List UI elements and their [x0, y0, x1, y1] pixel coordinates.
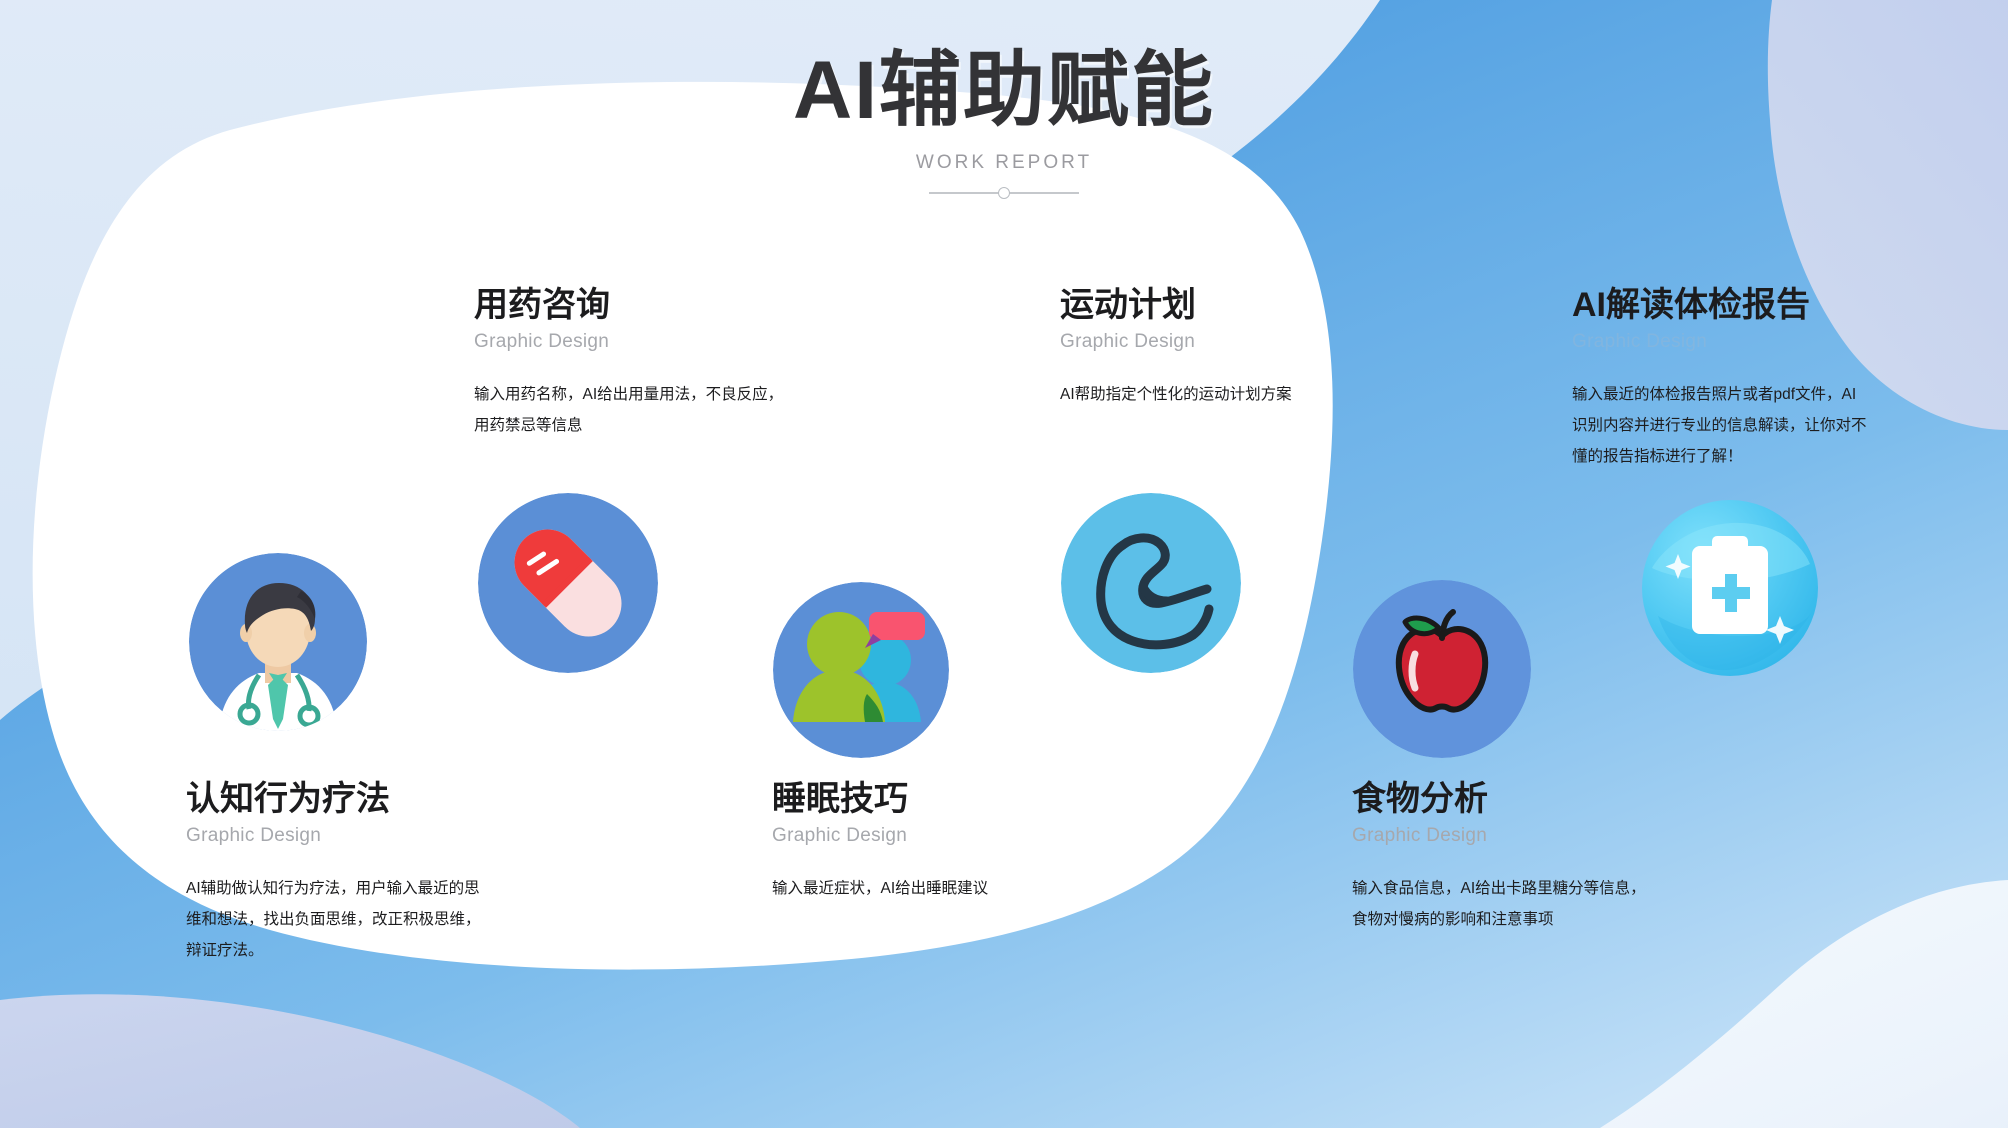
- feature-desc-line: 输入最近的体检报告照片或者pdf文件，AI: [1572, 379, 1912, 410]
- feature-desc-line: 用药禁忌等信息: [474, 410, 824, 441]
- feature-food-analysis[interactable]: 食物分析 Graphic Design 输入食品信息，AI给出卡路里糖分等信息，…: [1352, 780, 1692, 935]
- page-subtitle: WORK REPORT: [0, 152, 2008, 174]
- feature-description: 输入最近症状，AI给出睡眠建议: [772, 873, 1102, 904]
- pill-icon-graphic: [478, 493, 658, 673]
- feature-desc-line: AI帮助指定个性化的运动计划方案: [1060, 379, 1390, 410]
- feature-desc-line: AI辅助做认知行为疗法，用户输入最近的思: [186, 873, 526, 904]
- doctor-avatar-icon[interactable]: [189, 553, 367, 731]
- people-chat-icon[interactable]: [773, 582, 949, 758]
- feature-desc-line: 辩证疗法。: [186, 935, 526, 966]
- apple-icon-graphic: [1353, 580, 1531, 758]
- feature-subtitle: Graphic Design: [1352, 825, 1692, 847]
- feature-desc-line: 懂的报告指标进行了解！: [1572, 441, 1912, 472]
- feature-description: AI帮助指定个性化的运动计划方案: [1060, 379, 1390, 410]
- title-divider: [929, 186, 1079, 200]
- people-chat-icon-graphic: [773, 582, 949, 758]
- feature-description: 输入食品信息，AI给出卡路里糖分等信息， 食物对慢病的影响和注意事项: [1352, 873, 1692, 935]
- medical-clipboard-icon-graphic: [1640, 498, 1820, 678]
- feature-description: 输入用药名称，AI给出用量用法，不良反应， 用药禁忌等信息: [474, 379, 824, 441]
- feature-subtitle: Graphic Design: [186, 825, 526, 847]
- feature-desc-line: 食物对慢病的影响和注意事项: [1352, 904, 1692, 935]
- feature-title: 运动计划: [1060, 286, 1390, 325]
- feature-subtitle: Graphic Design: [1060, 331, 1390, 353]
- slide-canvas: AI辅助赋能 WORK REPORT 用药咨询 Graphic Design 输…: [0, 0, 2008, 1128]
- feature-desc-line: 识别内容并进行专业的信息解读，让你对不: [1572, 410, 1912, 441]
- feature-subtitle: Graphic Design: [1572, 331, 1912, 353]
- feature-desc-line: 输入最近症状，AI给出睡眠建议: [772, 873, 1102, 904]
- feature-title: 用药咨询: [474, 286, 824, 325]
- feature-desc-line: 输入用药名称，AI给出用量用法，不良反应，: [474, 379, 824, 410]
- title-block: AI辅助赋能 WORK REPORT: [0, 46, 2008, 200]
- feature-title: 认知行为疗法: [186, 780, 526, 819]
- pill-icon[interactable]: [478, 493, 658, 673]
- feature-description: 输入最近的体检报告照片或者pdf文件，AI 识别内容并进行专业的信息解读，让你对…: [1572, 379, 1912, 472]
- feature-ai-health-report[interactable]: AI解读体检报告 Graphic Design 输入最近的体检报告照片或者pdf…: [1572, 286, 1912, 472]
- feature-title: 睡眠技巧: [772, 780, 1102, 819]
- divider-dot-icon: [998, 187, 1010, 199]
- feature-subtitle: Graphic Design: [474, 331, 824, 353]
- feature-desc-line: 输入食品信息，AI给出卡路里糖分等信息，: [1352, 873, 1692, 904]
- feature-sleep-tips[interactable]: 睡眠技巧 Graphic Design 输入最近症状，AI给出睡眠建议: [772, 780, 1102, 904]
- feature-title: AI解读体检报告: [1572, 286, 1912, 325]
- feature-medication-consultation[interactable]: 用药咨询 Graphic Design 输入用药名称，AI给出用量用法，不良反应…: [474, 286, 824, 441]
- page-title: AI辅助赋能: [0, 46, 2008, 136]
- feature-subtitle: Graphic Design: [772, 825, 1102, 847]
- feature-desc-line: 维和想法，找出负面思维，改正积极思维，: [186, 904, 526, 935]
- apple-icon[interactable]: [1353, 580, 1531, 758]
- feature-description: AI辅助做认知行为疗法，用户输入最近的思 维和想法，找出负面思维，改正积极思维，…: [186, 873, 526, 966]
- feature-title: 食物分析: [1352, 780, 1692, 819]
- feature-exercise-plan[interactable]: 运动计划 Graphic Design AI帮助指定个性化的运动计划方案: [1060, 286, 1390, 410]
- feature-cognitive-behavioral-therapy[interactable]: 认知行为疗法 Graphic Design AI辅助做认知行为疗法，用户输入最近…: [186, 780, 526, 966]
- doctor-avatar-icon-graphic: [189, 553, 367, 731]
- flexed-bicep-icon[interactable]: [1061, 493, 1241, 673]
- medical-clipboard-icon[interactable]: [1640, 498, 1820, 678]
- flexed-bicep-icon-graphic: [1061, 493, 1241, 673]
